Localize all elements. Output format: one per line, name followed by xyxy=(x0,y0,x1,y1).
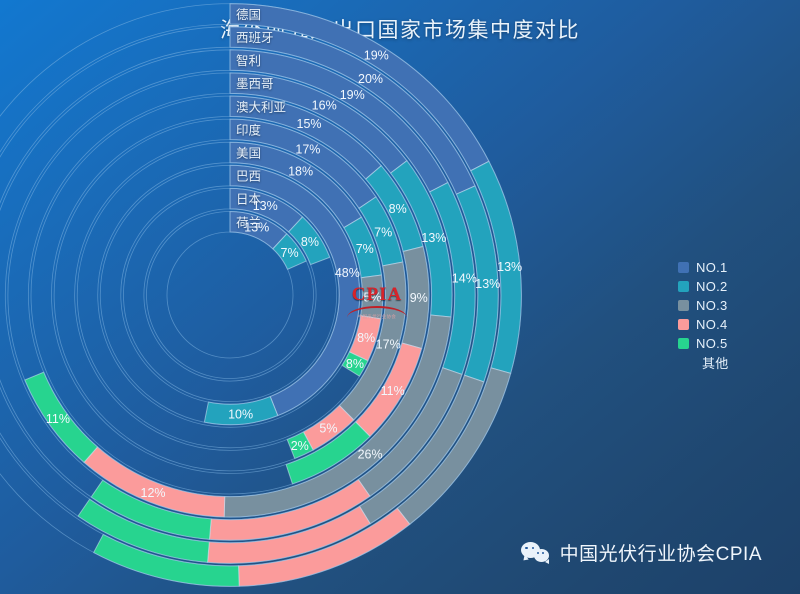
category-label-西班牙: 西班牙 xyxy=(236,31,274,45)
category-label-智利: 智利 xyxy=(236,53,261,68)
value-label-日本-NO.2: 8% xyxy=(301,235,319,249)
value-label-巴西-NO.2: 10% xyxy=(228,407,253,421)
value-label-印度-NO.3: 17% xyxy=(376,338,401,352)
value-label-西班牙-NO.2: 13% xyxy=(475,277,500,291)
category-label-澳大利亚: 澳大利亚 xyxy=(236,100,286,114)
legend-item-no4[interactable]: NO.4 xyxy=(678,315,729,334)
legend-item-no2[interactable]: NO.2 xyxy=(678,277,729,296)
value-label-澳大利亚-NO.1: 15% xyxy=(297,117,322,131)
category-label-德国: 德国 xyxy=(236,7,261,22)
legend-swatch xyxy=(678,357,689,368)
legend-item-no1[interactable]: NO.1 xyxy=(678,258,729,277)
legend-swatch xyxy=(678,281,689,292)
legend-label: NO.4 xyxy=(696,317,728,332)
value-label-智利-NO.2: 14% xyxy=(452,271,477,285)
legend-item-其他[interactable]: 其他 xyxy=(678,353,729,372)
category-label-印度: 印度 xyxy=(236,122,262,137)
category-label-巴西: 巴西 xyxy=(236,170,261,184)
chart-svg: 德国西班牙智利墨西哥澳大利亚印度美国巴西日本荷兰 19%13%20%13%19%… xyxy=(18,48,678,548)
legend-item-no5[interactable]: NO.5 xyxy=(678,334,729,353)
value-label-墨西哥-NO.5: 11% xyxy=(46,412,70,426)
slide-canvas: 海外前五大出口国家市场集中度对比 德国西班牙智利墨西哥澳大利亚印度美国巴西日本荷… xyxy=(0,0,800,594)
value-label-美国-NO.2: 7% xyxy=(356,242,374,256)
value-label-印度-NO.2: 7% xyxy=(374,226,392,240)
value-label-西班牙-NO.1: 20% xyxy=(358,72,383,86)
radial-stacked-bar-chart: 德国西班牙智利墨西哥澳大利亚印度美国巴西日本荷兰 19%13%20%13%19%… xyxy=(18,48,678,548)
category-label-墨西哥: 墨西哥 xyxy=(236,77,274,91)
chart-legend: NO.1NO.2NO.3NO.4NO.5其他 xyxy=(678,258,729,372)
value-label-印度-NO.5: 2% xyxy=(291,439,309,453)
value-label-美国-NO.3: 5% xyxy=(363,290,381,304)
value-label-德国-NO.2: 13% xyxy=(497,260,522,274)
value-label-墨西哥-NO.2: 13% xyxy=(421,231,446,245)
value-label-智利-NO.1: 19% xyxy=(340,88,365,102)
value-label-巴西-NO.1: 48% xyxy=(335,266,360,280)
footer-brand: 中国光伏行业协会CPIA xyxy=(521,539,762,566)
wechat-icon xyxy=(521,542,551,564)
value-label-德国-NO.1: 19% xyxy=(364,48,389,62)
value-label-美国-NO.1: 18% xyxy=(288,165,313,179)
legend-label: NO.1 xyxy=(696,260,728,275)
value-label-墨西哥-NO.1: 16% xyxy=(312,99,337,113)
legend-swatch xyxy=(678,262,689,273)
value-label-美国-NO.5: 8% xyxy=(346,357,364,371)
page-title: 海外前五大出口国家市场集中度对比 xyxy=(0,14,800,44)
legend-label: NO.3 xyxy=(696,298,728,313)
value-label-澳大利亚-NO.3: 9% xyxy=(410,291,428,305)
value-label-印度-NO.4: 5% xyxy=(319,422,337,436)
value-label-印度-NO.1: 17% xyxy=(295,142,320,156)
value-label-墨西哥-NO.3: 26% xyxy=(358,447,383,461)
category-label-美国: 美国 xyxy=(236,146,261,160)
legend-label: NO.5 xyxy=(696,336,728,351)
value-label-墨西哥-NO.4: 12% xyxy=(141,486,166,500)
value-label-澳大利亚-NO.4: 11% xyxy=(381,384,405,398)
legend-item-no3[interactable]: NO.3 xyxy=(678,296,729,315)
value-label-荷兰-NO.1: 13% xyxy=(244,220,269,234)
value-label-荷兰-NO.2: 7% xyxy=(281,246,299,260)
legend-swatch xyxy=(678,319,689,330)
value-label-澳大利亚-NO.2: 8% xyxy=(389,202,407,216)
legend-label: 其他 xyxy=(702,353,729,372)
legend-swatch xyxy=(678,300,689,311)
footer-text: 中国光伏行业协会CPIA xyxy=(560,539,762,566)
value-label-日本-NO.1: 13% xyxy=(253,199,278,213)
legend-swatch xyxy=(678,338,689,349)
legend-label: NO.2 xyxy=(696,279,728,294)
value-label-美国-NO.4: 8% xyxy=(357,331,375,345)
